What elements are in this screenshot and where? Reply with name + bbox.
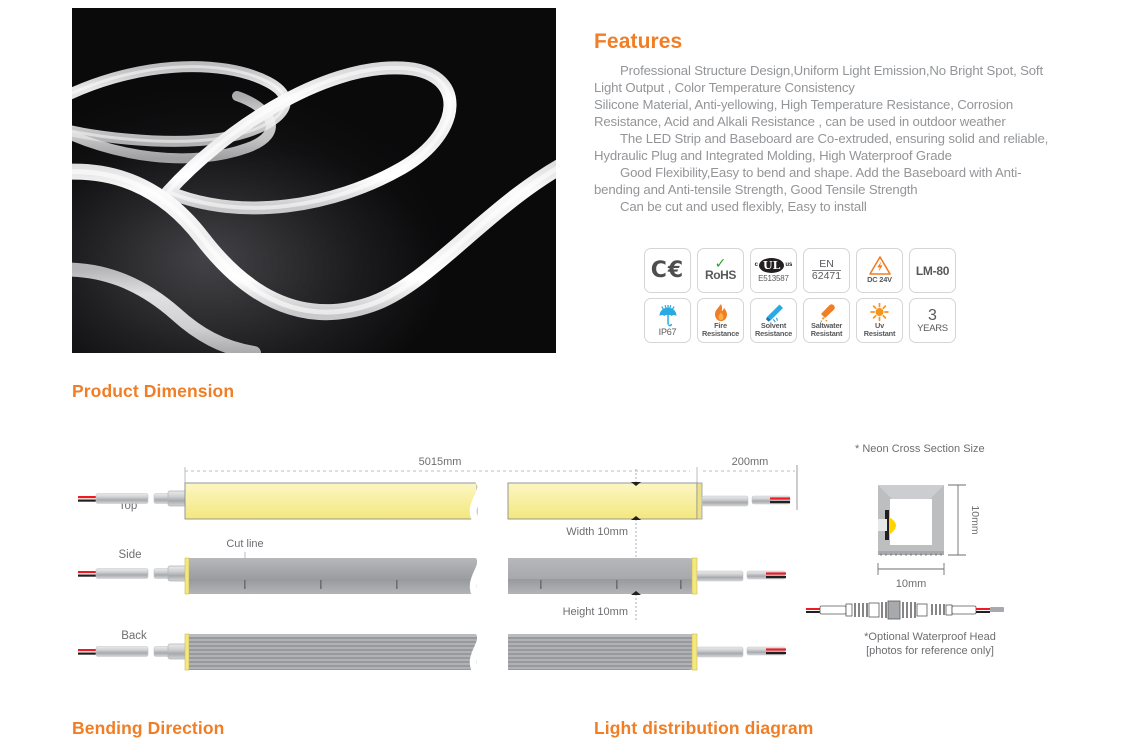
badge-lm80-label: LM-80	[916, 264, 949, 278]
badge-en-bottom: 62471	[812, 270, 841, 282]
neon-flex-illustration	[72, 8, 556, 353]
badge-rohs-label: RoHS	[705, 268, 736, 282]
badge-warranty-label: YEARS	[917, 323, 948, 334]
lead-wire-right-back	[697, 647, 786, 657]
badge-uv-bottom: Resistant	[864, 330, 895, 338]
flame-icon	[712, 303, 730, 323]
features-paragraph-2: Silicone Material, Anti-yellowing, High …	[594, 96, 1049, 130]
badge-solvent: Solvent Resistance	[750, 298, 797, 343]
cross-section-drawing: 10mm 10mm	[878, 485, 981, 590]
features-paragraph-4: Good Flexibility,Easy to bend and shape.…	[594, 164, 1049, 198]
features-paragraph-3: The LED Strip and Baseboard are Co-extru…	[594, 130, 1049, 164]
lead-wire-right-side	[697, 571, 786, 581]
badge-ce: C€	[644, 248, 691, 293]
lead-wire-right-top	[702, 496, 790, 506]
badge-rohs: ✓ RoHS	[697, 248, 744, 293]
warning-triangle-icon	[869, 256, 891, 275]
badge-fire: Fire Resistance	[697, 298, 744, 343]
dimension-height-label: Height 10mm	[563, 606, 628, 618]
badge-row-2: IP67 Fire Resistance Solvent Resistance	[644, 298, 974, 343]
badge-ip67-label: IP67	[659, 328, 677, 336]
dimension-lead-label: 200mm	[732, 456, 769, 468]
features-paragraph-5: Can be cut and used flexibly, Easy to in…	[594, 198, 1049, 215]
view-label-side: Side	[118, 549, 141, 561]
badge-ul: cULus E513587	[750, 248, 797, 293]
product-dimension-diagram: Top 5015mm 200mm	[0, 425, 1138, 680]
ce-icon: C€	[651, 258, 684, 283]
badge-lm80: LM-80	[909, 248, 956, 293]
cross-section-height-label: 10mm	[969, 505, 981, 534]
dimension-width-label: Width 10mm	[566, 526, 628, 538]
cross-section-width-label: 10mm	[896, 578, 927, 590]
green-check-icon: ✓	[715, 259, 727, 268]
standard-icon: EN 62471	[812, 259, 841, 282]
salt-shaker-icon	[816, 303, 838, 323]
badge-ul-label: E513587	[758, 275, 789, 283]
product-photo	[72, 8, 556, 353]
badge-warranty: 3 YEARS	[909, 298, 956, 343]
features-paragraph-1: Professional Structure Design,Uniform Li…	[594, 62, 1049, 96]
view-label-back: Back	[121, 630, 147, 642]
certification-badges: C€ ✓ RoHS cULus E513587 EN 62471 DC 24V	[644, 248, 974, 348]
dimension-length-label: 5015mm	[419, 456, 462, 468]
badge-solvent-bottom: Resistance	[755, 330, 792, 338]
cross-section-title: * Neon Cross Section Size	[855, 443, 985, 455]
badge-dc24v-label: DC 24V	[867, 276, 892, 284]
waterproof-note-line-2: [photos for reference only]	[866, 645, 994, 657]
lead-wire-left-back	[78, 644, 188, 659]
badge-ip67: IP67	[644, 298, 691, 343]
badge-uv: Uv Resistant	[856, 298, 903, 343]
badge-warranty-years: 3	[928, 308, 937, 323]
product-dimension-heading: Product Dimension	[72, 381, 234, 402]
badge-saltwater-bottom: Resistant	[811, 330, 842, 338]
lead-wire-left-side	[78, 566, 188, 581]
features-section: Features Professional Structure Design,U…	[594, 30, 1049, 215]
badge-fire-bottom: Resistance	[702, 330, 739, 338]
waterproof-note-line-1: *Optional Waterproof Head	[864, 631, 996, 643]
umbrella-rain-icon	[656, 305, 680, 327]
badge-dc24v: DC 24V	[856, 248, 903, 293]
light-distribution-heading: Light distribution diagram	[594, 718, 813, 739]
features-heading: Features	[594, 30, 1049, 54]
bending-direction-heading: Bending Direction	[72, 718, 224, 739]
lead-wire-left-top	[78, 491, 188, 506]
cut-line-label: Cut line	[226, 538, 263, 550]
badge-saltwater: Saltwater Resistant	[803, 298, 850, 343]
badge-en62471: EN 62471	[803, 248, 850, 293]
dropper-icon	[763, 303, 785, 323]
badge-row-1: C€ ✓ RoHS cULus E513587 EN 62471 DC 24V	[644, 248, 974, 293]
sun-icon	[869, 303, 890, 323]
ul-listed-icon: cULus	[755, 258, 793, 273]
waterproof-head-illustration	[806, 601, 1004, 619]
